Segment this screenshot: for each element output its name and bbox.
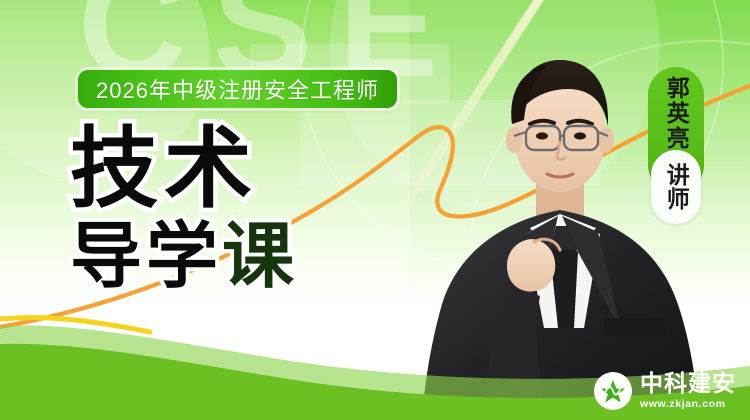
title-line-primary: 技术	[70, 128, 298, 211]
title-line-secondary-tint: 课	[222, 217, 298, 297]
brand-logo: 中科建安 www.zkjan.com	[594, 372, 736, 410]
instructor-name: 郭英亮	[664, 76, 688, 151]
title-line-secondary: 导学课	[70, 223, 298, 292]
brand-name: 中科建安	[640, 372, 736, 395]
course-poster: CSE	[0, 0, 750, 420]
zkjan-logo-icon	[594, 372, 632, 410]
course-category-badge: 2026年中级注册安全工程师	[78, 70, 397, 108]
course-category-label: 2026年中级注册安全工程师	[96, 73, 379, 105]
page-title: 技术 导学课	[70, 128, 298, 292]
brand-text: 中科建安 www.zkjan.com	[640, 372, 736, 410]
brand-url: www.zkjan.com	[640, 399, 736, 410]
instructor-role: 讲师	[664, 163, 688, 211]
title-line-secondary-black: 导学	[70, 217, 222, 297]
instructor-role-badge: 讲师	[651, 150, 701, 224]
